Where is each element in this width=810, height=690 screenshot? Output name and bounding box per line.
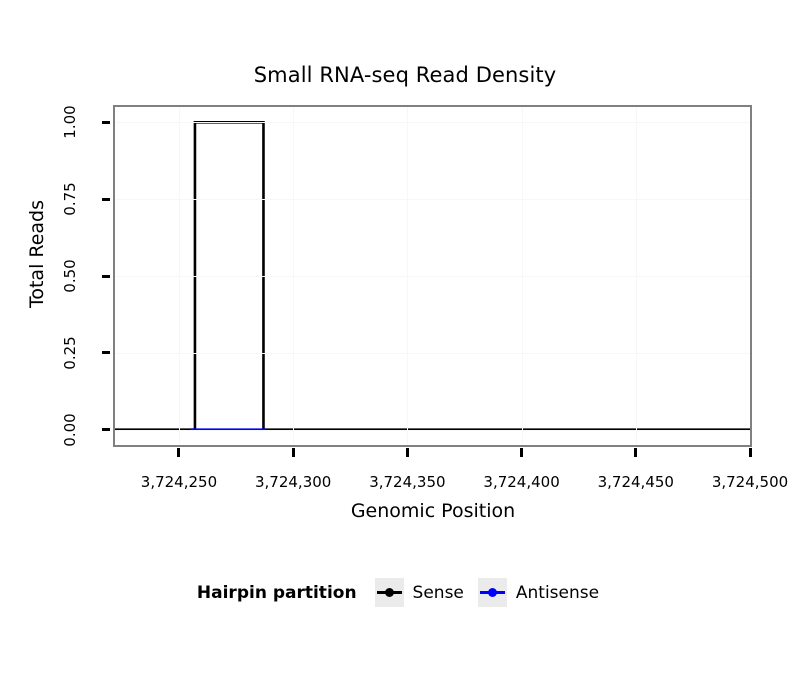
legend-label: Sense [413,583,464,603]
x-axis-title: Genomic Position [113,500,753,522]
gridline-horizontal [115,353,750,354]
y-tick-mark [102,198,110,201]
x-tick-label: 3,724,450 [576,473,696,491]
legend-item-sense[interactable]: Sense [375,578,464,607]
x-tick-mark [292,448,295,457]
x-tick-label: 3,724,250 [119,473,239,491]
y-tick-mark [102,428,110,431]
x-tick-mark [634,448,637,457]
gridline-vertical [293,107,294,445]
x-tick-label: 3,724,300 [233,473,353,491]
y-tick-label: 0.00 [61,400,79,460]
legend-item-antisense[interactable]: Antisense [478,578,599,607]
y-axis-title: Total Reads [26,154,48,354]
x-tick-label: 3,724,350 [347,473,467,491]
legend-label: Antisense [516,583,599,603]
gridline-horizontal [115,276,750,277]
legend-point-glyph [488,588,497,597]
y-tick-label: 0.50 [61,246,79,306]
gridline-horizontal [115,199,750,200]
legend-key-sense [375,578,404,607]
legend-point-glyph [385,588,394,597]
gridline-vertical [407,107,408,445]
y-tick-mark [102,121,110,124]
x-tick-label: 3,724,500 [690,473,810,491]
x-tick-mark [520,448,523,457]
legend-items: SenseAntisense [375,578,614,607]
y-tick-label: 0.25 [61,323,79,383]
x-tick-mark [177,448,180,457]
chart-title: Small RNA-seq Read Density [0,62,810,88]
legend-title: Hairpin partition [197,583,357,603]
chart-container: Small RNA-seq Read Density Total Reads G… [0,0,810,690]
y-tick-label: 0.75 [61,169,79,229]
gridline-vertical [522,107,523,445]
gridline-vertical [636,107,637,445]
y-tick-mark [102,275,110,278]
plot-panel [113,105,752,447]
x-tick-mark [749,448,752,457]
y-tick-mark [102,351,110,354]
gridline-vertical [179,107,180,445]
x-tick-mark [406,448,409,457]
legend-key-antisense [478,578,507,607]
y-tick-label: 1.00 [61,92,79,152]
gridline-horizontal [115,122,750,123]
gridline-horizontal [115,430,750,431]
x-tick-label: 3,724,400 [462,473,582,491]
legend: Hairpin partition SenseAntisense [0,578,810,607]
